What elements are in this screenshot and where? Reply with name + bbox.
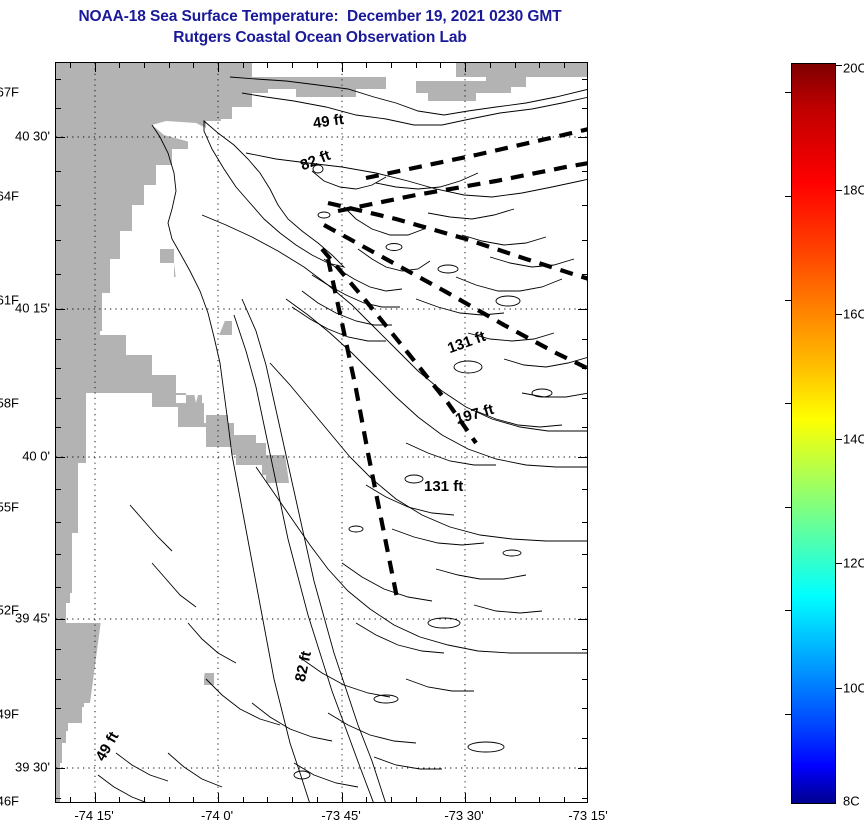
- cb-label-c-3: 14C: [843, 432, 864, 447]
- y-axis-label-1-text: 40 15': [15, 301, 50, 316]
- map-graphics: [56, 63, 588, 803]
- cb-label-c-4: 12C: [843, 556, 864, 571]
- cb-label-c-2: 16C: [843, 307, 864, 322]
- x-axis-label-3: -73 30': [444, 808, 483, 823]
- cb-label-f-4: 55F: [0, 500, 19, 515]
- cb-label-c-1: 18C: [843, 183, 864, 198]
- sst-map-figure: NOAA-18 Sea Surface Temperature: Decembe…: [0, 0, 864, 832]
- cb-label-f-5: 52F: [0, 603, 19, 618]
- x-axis-label-4: -73 15': [568, 808, 607, 823]
- depth-label-131ft-lower: 131 ft: [424, 478, 463, 495]
- cb-label-f-7: 46F: [0, 794, 19, 809]
- y-axis-label-3: 39 45': [50, 611, 85, 626]
- title-line-2: Rutgers Coastal Ocean Observation Lab: [0, 27, 640, 48]
- cb-label-c-5: 10C: [843, 681, 864, 696]
- cb-label-f-2: 61F: [0, 293, 19, 308]
- temperature-colorbar[interactable]: [791, 63, 836, 804]
- cb-label-f-3: 58F: [0, 396, 19, 411]
- cb-label-c-0: 20C: [843, 61, 864, 76]
- map-plot-area[interactable]: [55, 62, 588, 803]
- cb-label-c-6: 8C: [843, 794, 860, 809]
- x-axis-label-1: -74 0': [201, 808, 233, 823]
- y-axis-label-2-text: 40 0': [22, 449, 50, 464]
- cb-label-f-0: 67F: [0, 85, 19, 100]
- y-axis-label-2: 40 0': [50, 449, 78, 464]
- y-axis-label-4: 39 30': [50, 760, 85, 775]
- y-axis-label-0: 40 30': [50, 129, 85, 144]
- y-axis-label-3-text: 39 45': [15, 611, 50, 626]
- cb-label-f-1: 64F: [0, 189, 19, 204]
- x-axis-label-2: -73 45': [321, 808, 360, 823]
- y-axis-label-0-text: 40 30': [15, 129, 50, 144]
- y-axis-label-1: 40 15': [50, 301, 85, 316]
- x-axis-label-0: -74 15': [74, 808, 113, 823]
- y-axis-label-4-text: 39 30': [15, 760, 50, 775]
- cb-label-f-6: 49F: [0, 707, 19, 722]
- figure-title: NOAA-18 Sea Surface Temperature: Decembe…: [0, 6, 640, 48]
- title-line-1: NOAA-18 Sea Surface Temperature: Decembe…: [0, 6, 640, 27]
- colorbar-gradient: [791, 63, 836, 804]
